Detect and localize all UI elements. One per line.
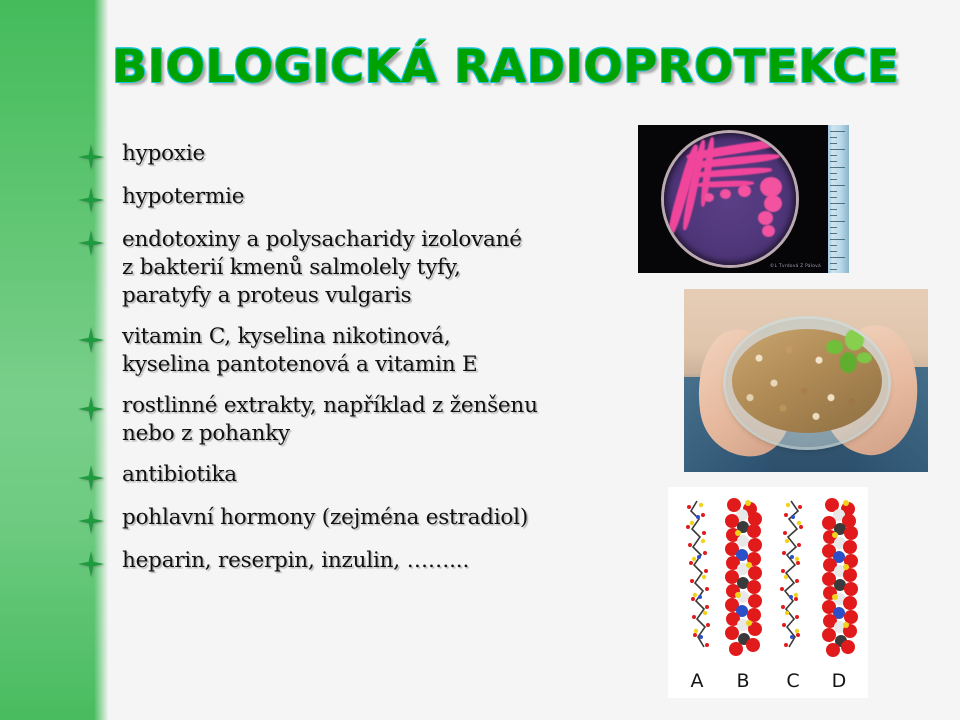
glass-bowl <box>726 319 888 447</box>
list-item-label: rostlinné extrakty, například z ženšenu … <box>122 392 638 448</box>
list-item[interactable]: antibiotika <box>78 461 638 491</box>
list-item-label: vitamin C, kyselina nikotinová, kyselina… <box>122 323 638 379</box>
bullet-list: hypoxie hypotermie endotoxiny a polysach… <box>78 140 638 590</box>
molecule-space-fill-model-d <box>818 497 860 657</box>
four-point-star-bullet-icon <box>78 465 104 491</box>
list-item[interactable]: hypotermie <box>78 183 638 213</box>
list-item-label: hypoxie <box>122 140 638 168</box>
four-point-star-bullet-icon <box>78 230 104 256</box>
list-item-label: hypotermie <box>122 183 638 211</box>
molecular-structures-panel[interactable]: A <box>668 487 868 698</box>
molecule-label-d: D <box>818 670 860 692</box>
photo-credit-caption: ©L Tvrdová Z Pálová <box>770 264 821 269</box>
four-point-star-bullet-icon <box>78 327 104 353</box>
molecule-stick-model-a <box>682 497 712 657</box>
list-item[interactable]: hypoxie <box>78 140 638 170</box>
list-item[interactable]: endotoxiny a polysacharidy izolované z b… <box>78 226 638 310</box>
page-title: BIOLOGICKÁ RADIOPROTEKCE <box>112 44 936 89</box>
buckwheat-bowl-photo[interactable] <box>684 289 928 472</box>
molecule-space-fill-model-b <box>722 497 764 657</box>
list-item-label: antibiotika <box>122 461 638 489</box>
list-item[interactable]: rostlinné extrakty, například z ženšenu … <box>78 392 638 448</box>
molecule-stick-model-c <box>778 497 808 657</box>
petri-dish-photo[interactable]: ©L Tvrdová Z Pálová <box>638 125 849 273</box>
list-item[interactable]: vitamin C, kyselina nikotinová, kyselina… <box>78 323 638 379</box>
list-item[interactable]: heparin, reserpin, inzulin, ……... <box>78 547 638 577</box>
four-point-star-bullet-icon <box>78 144 104 170</box>
slide-canvas: BIOLOGICKÁ RADIOPROTEKCE hypoxie hypoter… <box>0 0 960 720</box>
four-point-star-bullet-icon <box>78 187 104 213</box>
list-item-label: pohlavní hormony (zejména estradiol) <box>122 504 638 532</box>
four-point-star-bullet-icon <box>78 508 104 534</box>
dill-herb <box>816 323 878 383</box>
list-item-label: endotoxiny a polysacharidy izolované z b… <box>122 226 638 310</box>
four-point-star-bullet-icon <box>78 551 104 577</box>
agar-plate <box>664 133 796 265</box>
molecule-label-c: C <box>778 670 808 692</box>
molecule-label-a: A <box>682 670 712 692</box>
list-item-label: heparin, reserpin, inzulin, ……... <box>122 547 638 575</box>
ruler-strip <box>828 125 849 273</box>
list-item[interactable]: pohlavní hormony (zejména estradiol) <box>78 504 638 534</box>
four-point-star-bullet-icon <box>78 396 104 422</box>
molecule-label-b: B <box>722 670 764 692</box>
